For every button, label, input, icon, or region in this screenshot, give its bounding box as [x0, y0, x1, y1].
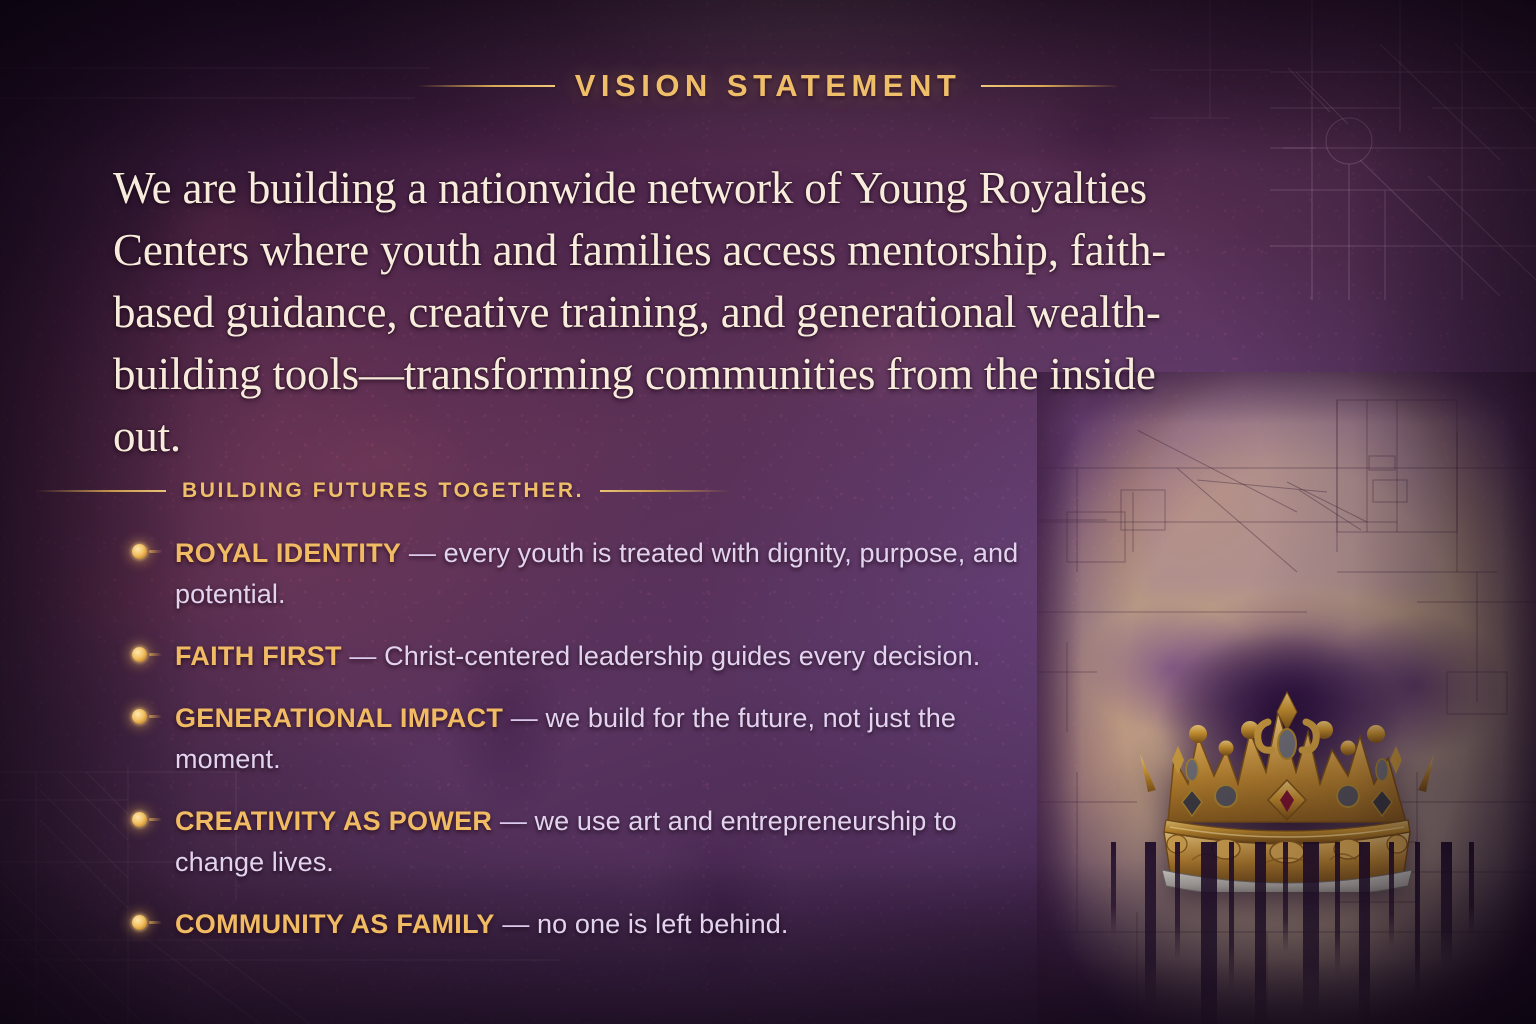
bullet-icon: [132, 544, 147, 559]
subheader-rule-left: [36, 490, 166, 492]
subheader-rule-right: [600, 490, 730, 492]
pillar-label: FAITH FIRST: [175, 641, 342, 671]
subheader: BUILDING FUTURES TOGETHER.: [36, 479, 730, 503]
poster-stage: VISION STATEMENT We are building a natio…: [0, 0, 1536, 1024]
pillar-body: no one is left behind.: [537, 909, 788, 939]
pillar-label: COMMUNITY AS FAMILY: [175, 909, 495, 939]
pillar-dash: —: [401, 538, 443, 568]
pillar-list: ROYAL IDENTITY — every youth is treated …: [120, 533, 1020, 945]
pillar-label: CREATIVITY AS POWER: [175, 806, 492, 836]
header-rule-right: [981, 85, 1119, 87]
pillar-dash: —: [342, 641, 384, 671]
bullet-icon: [132, 709, 147, 724]
pillar-dash: —: [503, 703, 545, 733]
bullet-icon: [132, 812, 147, 827]
pillar-label: ROYAL IDENTITY: [175, 538, 401, 568]
pillar-dash: —: [495, 909, 537, 939]
content-layer: VISION STATEMENT We are building a natio…: [0, 0, 1536, 1024]
list-item: COMMUNITY AS FAMILY — no one is left beh…: [120, 904, 1020, 945]
bullet-icon: [132, 647, 147, 662]
header: VISION STATEMENT: [0, 68, 1536, 104]
pillar-dash: —: [492, 806, 534, 836]
list-item: ROYAL IDENTITY — every youth is treated …: [120, 533, 1020, 615]
pillar-body: Christ-centered leadership guides every …: [384, 641, 980, 671]
subheader-title: BUILDING FUTURES TOGETHER.: [182, 479, 584, 503]
list-item: CREATIVITY AS POWER — we use art and ent…: [120, 801, 1020, 883]
pillar-text: GENERATIONAL IMPACT — we build for the f…: [175, 698, 1020, 780]
pillar-text: ROYAL IDENTITY — every youth is treated …: [175, 533, 1020, 615]
header-rule-left: [417, 85, 555, 87]
pillar-text: CREATIVITY AS POWER — we use art and ent…: [175, 801, 1020, 883]
vision-paragraph: We are building a nationwide network of …: [113, 157, 1183, 467]
list-item: GENERATIONAL IMPACT — we build for the f…: [120, 698, 1020, 780]
pillar-label: GENERATIONAL IMPACT: [175, 703, 503, 733]
bullet-icon: [132, 915, 147, 930]
pillar-text: FAITH FIRST — Christ-centered leadership…: [175, 636, 1020, 677]
pillar-text: COMMUNITY AS FAMILY — no one is left beh…: [175, 904, 1020, 945]
page-title: VISION STATEMENT: [575, 68, 962, 104]
list-item: FAITH FIRST — Christ-centered leadership…: [120, 636, 1020, 677]
